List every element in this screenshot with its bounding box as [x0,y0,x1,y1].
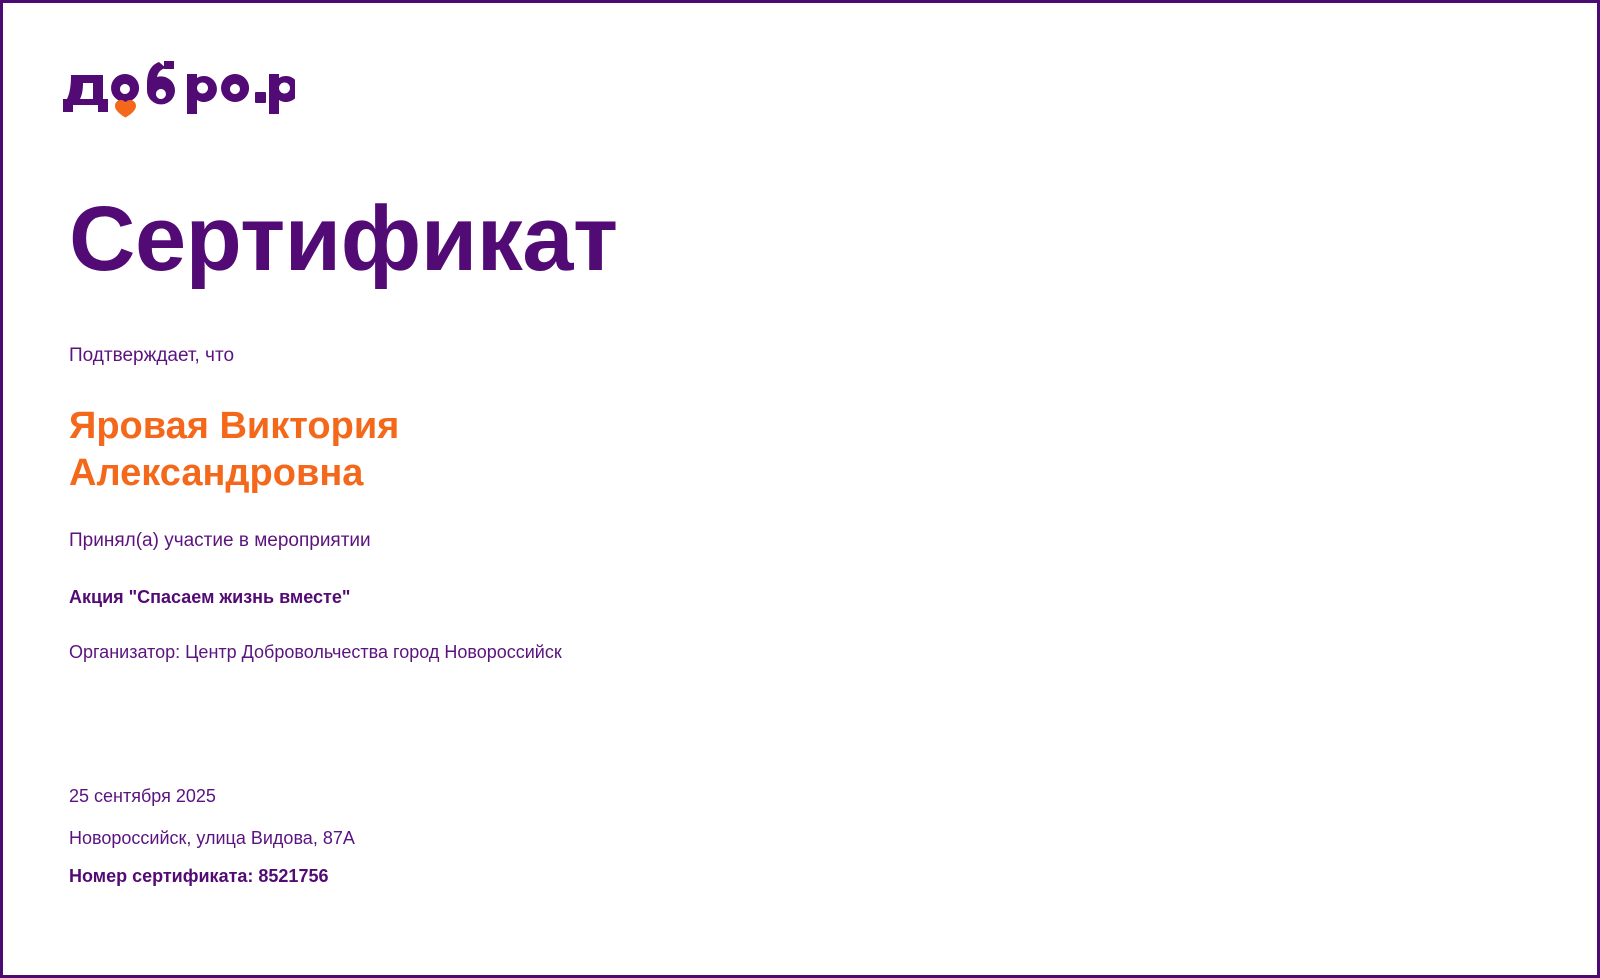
organizer-line: Организатор: Центр Добровольчества город… [69,640,1069,665]
page-title: Сертификат [69,193,1069,287]
certificate-page: Сертификат Подтверждает, что Яровая Викт… [0,0,1600,978]
certificate-number: Номер сертификата: 8521756 [69,863,969,890]
event-name: Акция "Спасаем жизнь вместе" [69,585,1069,610]
dobro-rf-logo-svg [63,61,295,119]
participation-label: Принял(а) участие в мероприятии [69,528,1069,555]
heart-icon [115,100,136,118]
confirm-label: Подтверждает, что [69,343,1069,370]
recipient-name: Яровая Виктория Александровна [69,403,569,496]
issue-place: Новороссийск, улица Видова, 87А [69,825,969,853]
dobro-rf-logo [63,61,295,119]
certificate-footer: 25 сентября 2025 Новороссийск, улица Вид… [69,783,969,890]
issue-date: 25 сентября 2025 [69,783,969,811]
certificate-content: Сертификат Подтверждает, что Яровая Викт… [69,193,1069,665]
